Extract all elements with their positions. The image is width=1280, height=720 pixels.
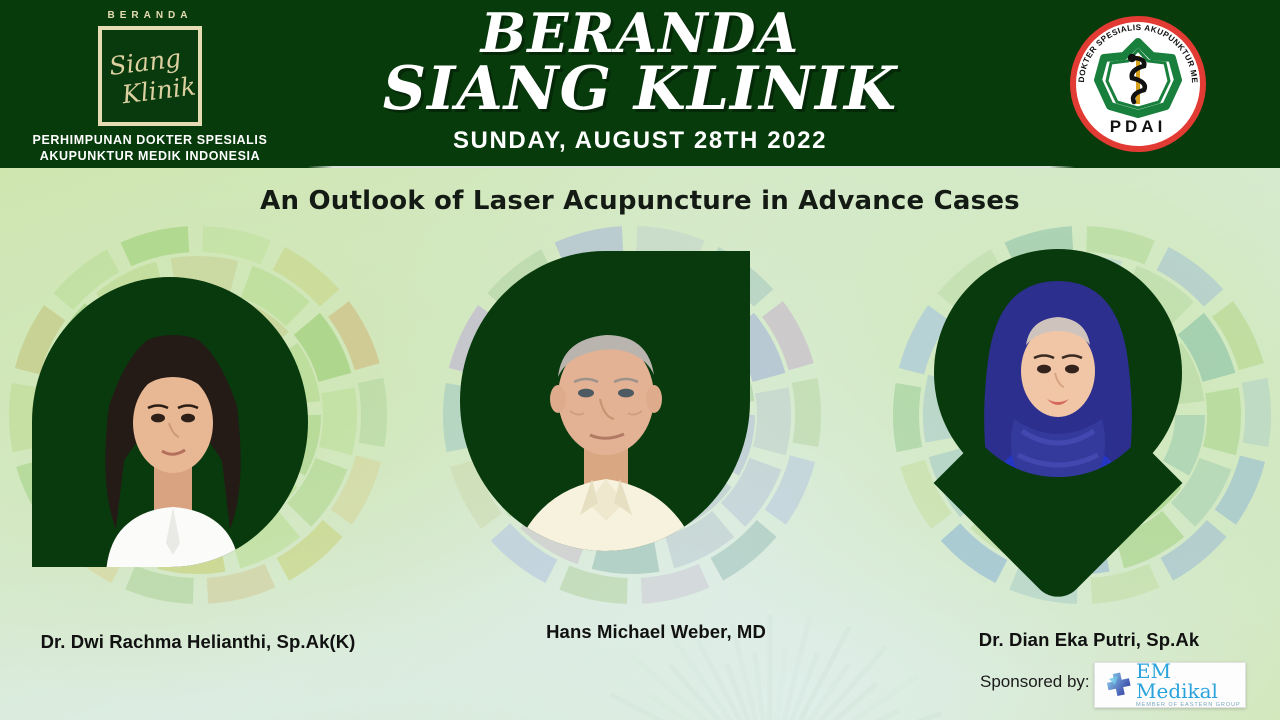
- speaker-name-2: Hans Michael Weber, MD: [456, 621, 856, 643]
- pdai-acronym: PDAI: [1110, 117, 1167, 136]
- header-divider: [0, 166, 1280, 168]
- organisation-name: PERHIMPUNAN DOKTER SPESIALIS AKUPUNKTUR …: [0, 133, 300, 164]
- event-date: SUNDAY, AUGUST 28TH 2022: [310, 127, 970, 155]
- logo-script-line-2: Klinik: [121, 73, 197, 107]
- organisation-line-1: PERHIMPUNAN DOKTER SPESIALIS: [0, 133, 300, 149]
- pdai-seal-logo: PERHIMPUNAN DOKTER SPESIALIS AKUPUNKTUR …: [1068, 14, 1208, 154]
- session-title: An Outlook of Laser Acupuncture in Advan…: [0, 186, 1280, 216]
- siang-klinik-script: Siang Klinik: [102, 30, 198, 122]
- event-title-line-2: SIANG KLINIK: [310, 61, 970, 118]
- speaker-avatar-1: [80, 311, 266, 567]
- event-title-block: BERANDA SIANG KLINIK SUNDAY, AUGUST 28TH…: [310, 8, 970, 155]
- speaker-photo-frame-2: [460, 251, 750, 551]
- em-medikal-tagline: MEMBER OF EASTERN GROUP: [1136, 703, 1245, 709]
- em-medikal-logo: EM Medikal MEMBER OF EASTERN GROUP: [1094, 662, 1246, 708]
- event-poster: Dr. Dwi Rachma Helianthi, Sp.Ak(K): [0, 0, 1280, 720]
- speaker-avatar-2: [496, 289, 716, 551]
- speaker-photo-frame-1: [32, 277, 308, 567]
- brand-kicker: BERANDA: [0, 10, 300, 21]
- poster-header: BERANDA Siang Klinik PERHIMPUNAN DOKTER …: [0, 0, 1280, 168]
- speaker-name-3: Dr. Dian Eka Putri, Sp.Ak: [889, 629, 1280, 651]
- medical-cross-icon: [1103, 670, 1133, 700]
- siang-klinik-logo: Siang Klinik: [98, 26, 202, 126]
- beranda-brand-block: BERANDA Siang Klinik PERHIMPUNAN DOKTER …: [0, 4, 300, 168]
- organisation-line-2: AKUPUNKTUR MEDIK INDONESIA: [0, 149, 300, 165]
- speaker-card-3: Dr. Dian Eka Putri, Sp.Ak: [882, 225, 1280, 695]
- em-medikal-name: EM Medikal: [1136, 661, 1245, 701]
- em-medikal-wordmark: EM Medikal MEMBER OF EASTERN GROUP: [1136, 661, 1245, 709]
- speaker-card-1: Dr. Dwi Rachma Helianthi, Sp.Ak(K): [0, 225, 398, 695]
- speaker-card-2: Hans Michael Weber, MD: [432, 225, 832, 695]
- speaker-avatar-3: [962, 269, 1154, 497]
- speaker-photo-frame-3: [934, 249, 1182, 497]
- speaker-name-1: Dr. Dwi Rachma Helianthi, Sp.Ak(K): [0, 631, 398, 653]
- event-title-line-1: BERANDA: [310, 8, 970, 59]
- sponsored-by-label: Sponsored by:: [980, 672, 1090, 692]
